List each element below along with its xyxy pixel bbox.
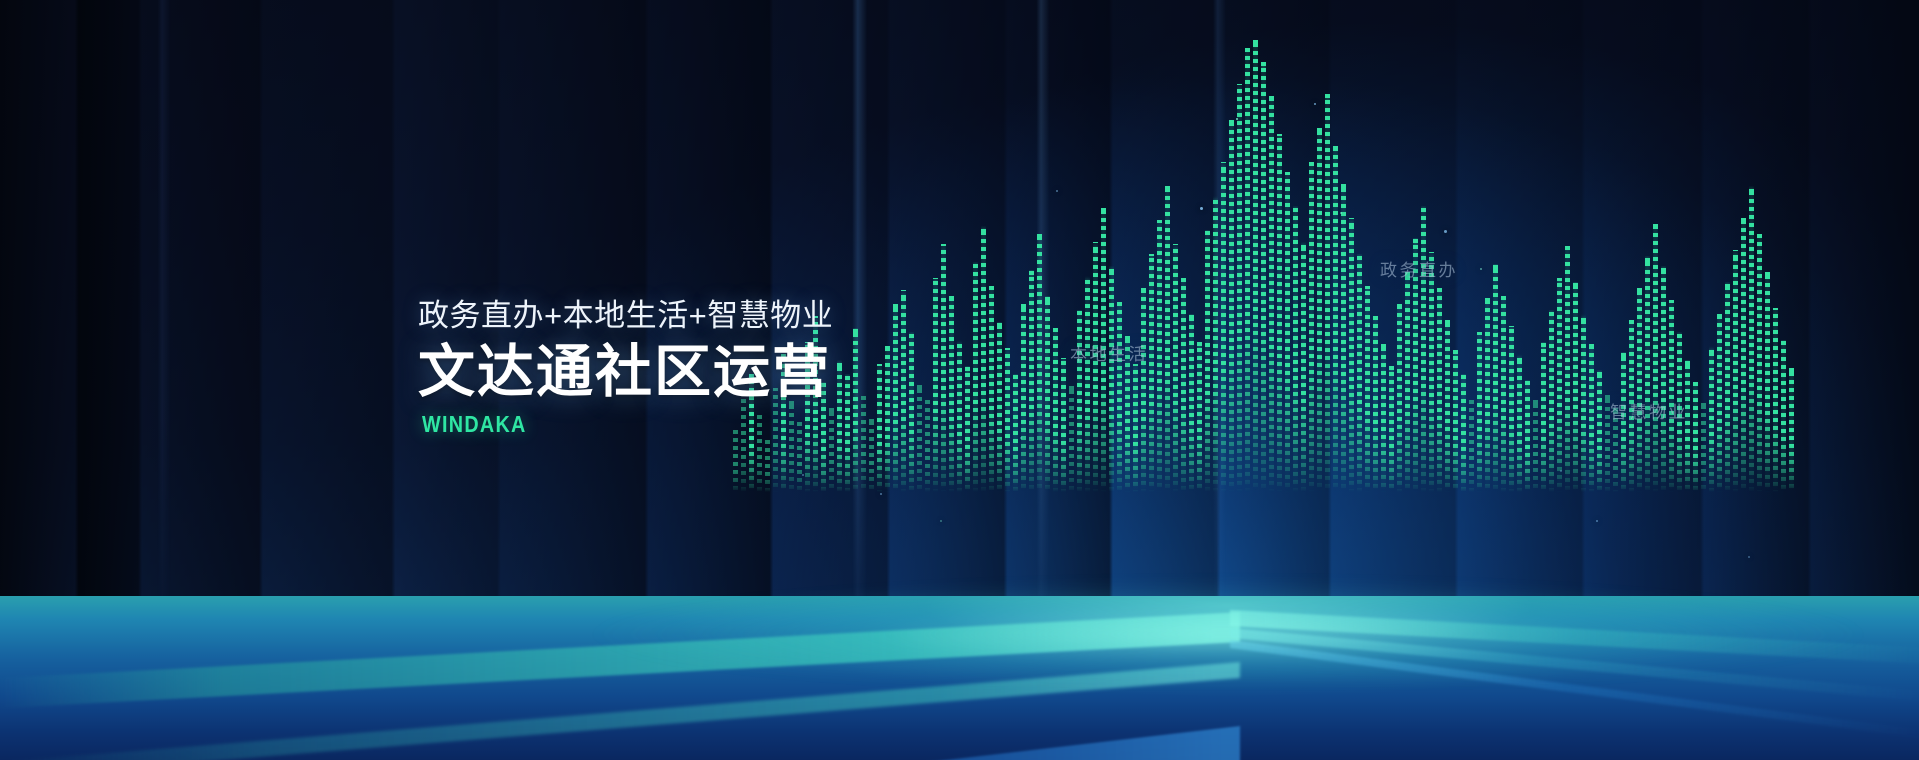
skyline-column <box>1061 358 1066 492</box>
skyline-column <box>1277 134 1282 492</box>
skyline-column <box>837 360 842 492</box>
skyline-column <box>1397 304 1402 492</box>
skyline-column <box>1109 266 1114 492</box>
skyline-column <box>733 430 738 492</box>
skyline-column <box>949 296 954 492</box>
skyline-column <box>861 396 866 492</box>
skyline-column <box>941 244 946 492</box>
skyline-column <box>925 400 930 492</box>
skyline-column <box>1341 184 1346 492</box>
skyline-column <box>885 346 890 492</box>
skyline-column <box>1197 342 1202 492</box>
hero-title: 文达通社区运营 <box>418 341 833 405</box>
skyline-column <box>1493 264 1498 492</box>
skyline-column <box>1013 374 1018 492</box>
sparkle-dot <box>1444 230 1447 233</box>
skyline-column <box>1549 310 1554 492</box>
skyline-column <box>1453 350 1458 492</box>
skyline-column <box>1773 308 1778 492</box>
skyline-column <box>1373 316 1378 492</box>
skyline-column <box>1765 272 1770 492</box>
sparkle-dot <box>802 474 804 476</box>
skyline-column <box>877 364 882 492</box>
sparkle-dot <box>1340 212 1342 214</box>
skyline-column <box>1781 340 1786 492</box>
skyline-column <box>1517 354 1522 492</box>
skyline-column <box>909 332 914 492</box>
skyline-column <box>1733 250 1738 492</box>
skyline-column <box>1557 278 1562 492</box>
skyline-column <box>1261 62 1266 492</box>
skyline-column <box>1325 94 1330 492</box>
skyline-column <box>1533 400 1538 492</box>
skyline-column <box>1485 298 1490 492</box>
skyline-column <box>853 328 858 492</box>
skyline-column <box>1221 162 1226 492</box>
skyline-column <box>1293 206 1298 492</box>
floating-label-2: 本地生活 <box>1070 340 1148 365</box>
skyline-column <box>1045 296 1050 492</box>
hero-subtitle: 政务直办+本地生活+智慧物业 <box>418 290 833 335</box>
skyline-column <box>1253 40 1258 492</box>
skyline-column <box>1573 282 1578 492</box>
skyline-column <box>1669 300 1674 492</box>
skyline-column <box>917 384 922 492</box>
skyline-column <box>933 278 938 492</box>
skyline-column <box>1317 128 1322 492</box>
sparkle-dot <box>1056 190 1058 192</box>
sparkle-dot <box>880 493 882 495</box>
skyline-column <box>1421 206 1426 492</box>
sparkle-dot <box>1368 325 1370 327</box>
skyline-column <box>1445 320 1450 492</box>
skyline-column <box>989 286 994 492</box>
skyline-column <box>1725 282 1730 492</box>
skyline-column <box>1429 252 1434 492</box>
hero-banner: 政务直办本地生活智慧物业 政务直办+本地生活+智慧物业 文达通社区运营 WIND… <box>0 0 1919 760</box>
hero-copy-block: 政务直办+本地生活+智慧物业 文达通社区运营 WINDAKA <box>418 290 833 438</box>
skyline-column <box>1717 314 1722 492</box>
skyline-column <box>1789 368 1794 492</box>
skyline-column <box>1389 366 1394 492</box>
skyline-column <box>1181 278 1186 492</box>
skyline-column <box>1213 196 1218 492</box>
skyline-column <box>1301 242 1306 492</box>
skyline-column <box>1005 348 1010 492</box>
skyline-column <box>1173 244 1178 492</box>
skyline-column <box>1461 374 1466 492</box>
skyline-column <box>997 322 1002 492</box>
skyline-column <box>1525 380 1530 492</box>
skyline-column <box>1709 346 1714 492</box>
skyline-column <box>1133 364 1138 492</box>
skyline-column <box>1141 288 1146 492</box>
skyline-column <box>1637 288 1642 492</box>
skyline-column <box>1077 310 1082 492</box>
sparkle-dot <box>1596 520 1598 522</box>
skyline-column <box>1093 242 1098 492</box>
skyline-column <box>1333 146 1338 492</box>
skyline-column <box>957 340 962 492</box>
skyline-column <box>1237 84 1242 492</box>
skyline-column <box>1309 162 1314 492</box>
skyline-column <box>1165 186 1170 492</box>
skyline-column <box>1501 296 1506 492</box>
sparkle-dot <box>940 520 942 522</box>
sparkle-dot <box>1660 430 1662 432</box>
skyline-column <box>1685 360 1690 492</box>
skyline-column <box>1469 396 1474 492</box>
skyline-column <box>1245 48 1250 492</box>
skyline-column <box>1653 224 1658 492</box>
skyline-column <box>1357 254 1362 492</box>
brand-wordmark: WINDAKA <box>422 411 776 438</box>
skyline-column <box>965 366 970 492</box>
skyline-column <box>973 262 978 492</box>
sparkle-dot <box>1228 258 1230 260</box>
skyline-column <box>1757 234 1762 492</box>
sparkle-dot <box>1020 437 1022 439</box>
sparkle-dot <box>1236 118 1238 120</box>
skyline-column <box>1205 230 1210 492</box>
sparkle-dot <box>1314 103 1316 105</box>
skyline-column <box>1069 384 1074 492</box>
skyline-column <box>1285 172 1290 492</box>
dot-skyline-chart <box>0 0 1919 620</box>
skyline-column <box>1021 304 1026 492</box>
skyline-column <box>1701 402 1706 492</box>
skyline-column <box>869 418 874 492</box>
skyline-column <box>1053 328 1058 492</box>
skyline-column <box>1541 342 1546 492</box>
skyline-column <box>1741 218 1746 492</box>
skyline-column <box>1037 234 1042 492</box>
sparkle-dot <box>1120 352 1122 354</box>
skyline-column <box>1437 288 1442 492</box>
floating-label-1: 政务直办 <box>1380 256 1458 281</box>
skyline-column <box>1565 246 1570 492</box>
skyline-column <box>1749 186 1754 492</box>
skyline-column <box>1189 314 1194 492</box>
sparkle-dot <box>1560 470 1562 472</box>
skyline-column <box>1365 286 1370 492</box>
skyline-column <box>1405 272 1410 492</box>
floating-label-3: 智慧物业 <box>1610 398 1688 423</box>
skyline-column <box>1693 382 1698 492</box>
skyline-column <box>1645 256 1650 492</box>
skyline-column <box>1661 266 1666 492</box>
skyline-column <box>1381 344 1386 492</box>
skyline-column <box>765 436 770 492</box>
skyline-column <box>1149 254 1154 492</box>
sparkle-dot <box>1200 207 1203 210</box>
skyline-column <box>981 226 986 492</box>
sparkle-dot <box>1480 268 1482 270</box>
skyline-column <box>1229 120 1234 492</box>
skyline-column <box>1509 326 1514 492</box>
skyline-column <box>901 290 906 492</box>
skyline-column <box>1085 276 1090 492</box>
skyline-column <box>1589 344 1594 492</box>
skyline-column <box>893 304 898 492</box>
sparkle-dot <box>1748 556 1750 558</box>
skyline-column <box>1581 314 1586 492</box>
skyline-column <box>1157 220 1162 492</box>
skyline-column <box>1477 332 1482 492</box>
skyline-column <box>1117 302 1122 492</box>
skyline-column <box>1269 96 1274 492</box>
skyline-column <box>845 374 850 492</box>
skyline-column <box>1597 370 1602 492</box>
skyline-column <box>1029 270 1034 492</box>
skyline-column <box>1349 218 1354 492</box>
